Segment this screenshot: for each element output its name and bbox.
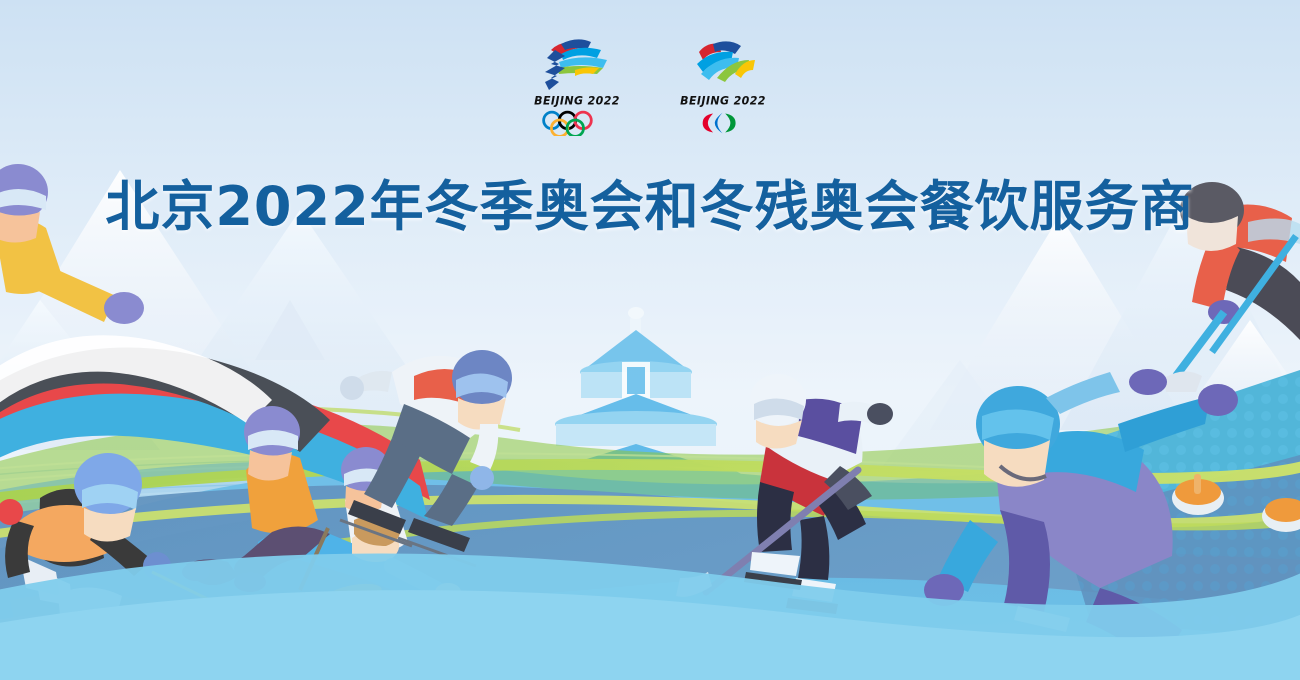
- beijing-2022-olympic-emblem-icon: [531, 34, 623, 92]
- alpine-skier: [0, 453, 300, 650]
- speed-lines: [0, 453, 1300, 545]
- foreground-wave: [0, 554, 1300, 680]
- ribbon-waves: [0, 392, 1300, 680]
- speed-skater: [924, 384, 1238, 680]
- beijing-2022-catering-services-banner: BEIJING 2022 BEIJING 2022: [0, 0, 1300, 680]
- olympic-emblem-block: BEIJING 2022: [522, 34, 632, 136]
- page-title: 北京2022年冬季奥会和冬残奥会餐饮服务商: [105, 179, 1194, 236]
- olympic-wordmark: BEIJING 2022: [534, 93, 620, 107]
- ice-hockey-player: [650, 374, 893, 619]
- curler-delivering-stone: [182, 514, 466, 670]
- curling-sheet-right: [1000, 370, 1300, 640]
- event-emblems: BEIJING 2022 BEIJING 2022: [0, 34, 1300, 136]
- beijing-2022-paralympic-emblem-icon: [677, 34, 769, 92]
- temple-of-heaven: [500, 307, 775, 550]
- olympic-rings-icon: [538, 110, 616, 136]
- title-container: 北京2022年冬季奥会和冬残奥会餐饮服务商: [0, 143, 1300, 272]
- paralympic-emblem-block: BEIJING 2022: [668, 34, 778, 136]
- short-track-speed-skater: [340, 350, 512, 566]
- paralympic-wordmark: BEIJING 2022: [680, 93, 766, 107]
- accent-ribbons: [0, 407, 1300, 548]
- paralympic-agitos-icon: [694, 110, 751, 136]
